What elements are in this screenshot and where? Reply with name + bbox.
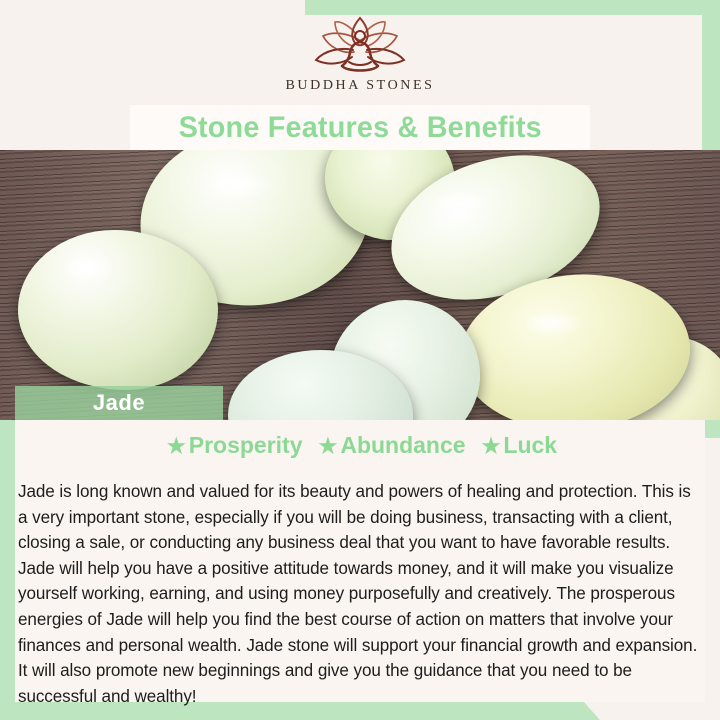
- brand-name: BUDDHA STONES: [285, 78, 434, 94]
- keyword-item-0: ★Prosperity: [157, 432, 309, 458]
- infographic-page: BUDDHA STONES Stone Features & Benefits …: [0, 0, 720, 720]
- title-banner: Stone Features & Benefits: [130, 105, 590, 150]
- page-title: Stone Features & Benefits: [178, 111, 541, 145]
- lotus-meditation-figure-icon: [300, 14, 420, 76]
- description-paragraph: Jade is long known and valued for its be…: [18, 479, 702, 709]
- star-icon: ★: [482, 435, 501, 458]
- jade-stones-photo: [0, 150, 720, 420]
- keyword-label-2: Luck: [503, 432, 557, 458]
- stone-1: [18, 230, 218, 390]
- star-icon: ★: [319, 435, 338, 458]
- star-icon: ★: [167, 435, 186, 458]
- photo-caption-band: Jade: [15, 386, 223, 420]
- keyword-list: ★Prosperity★Abundance★Luck: [0, 432, 720, 459]
- keyword-label-0: Prosperity: [189, 432, 303, 458]
- stone-name-label: Jade: [93, 390, 145, 416]
- keyword-item-2: ★Luck: [472, 432, 564, 458]
- brand-header: BUDDHA STONES: [0, 0, 720, 110]
- keyword-label-1: Abundance: [340, 432, 465, 458]
- keyword-item-1: ★Abundance: [309, 432, 472, 458]
